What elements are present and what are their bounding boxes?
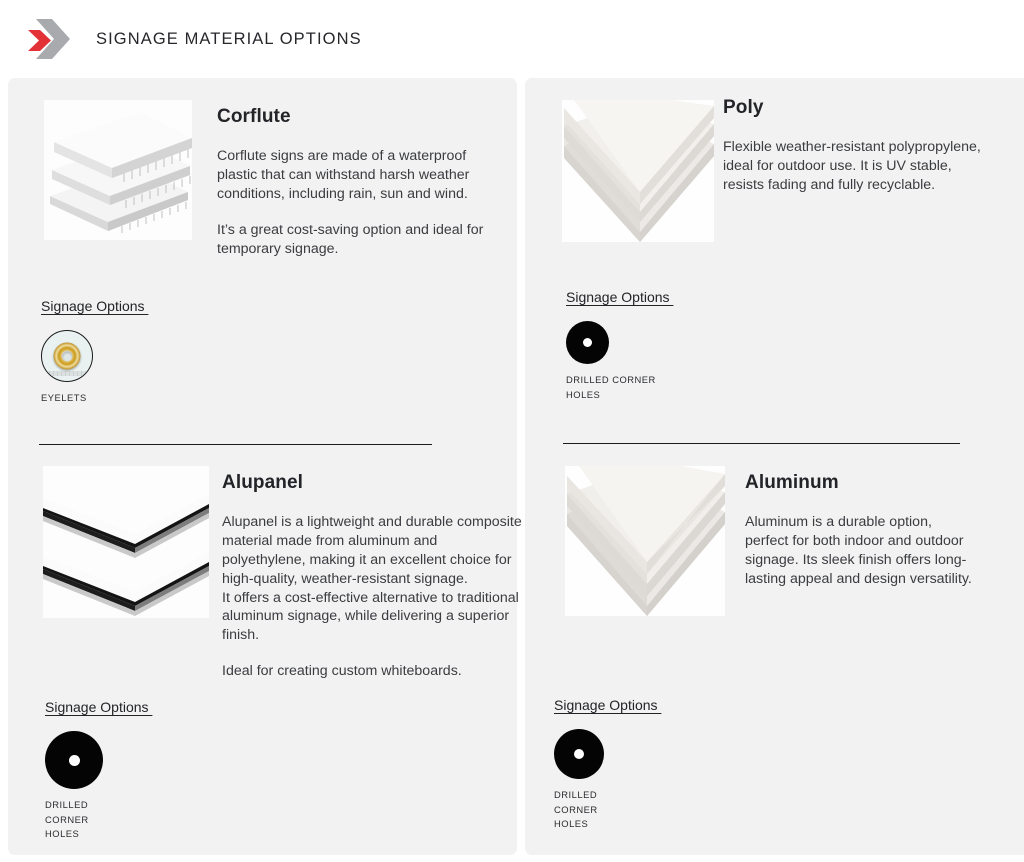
drilled-hole-icon	[566, 321, 609, 364]
aluminum-text: Aluminum Aluminum is a durable option, p…	[745, 472, 975, 589]
material-paragraph: Corflute signs are made of a waterproof …	[217, 147, 497, 204]
drilled-hole-icon	[554, 729, 604, 779]
aluminum-sheets-photo	[565, 466, 725, 616]
material-description: Aluminum is a durable option, perfect fo…	[745, 513, 975, 589]
material-description: Flexible weather-resistant polypropylene…	[723, 138, 985, 195]
material-description: Corflute signs are made of a waterproof …	[217, 147, 497, 258]
material-paragraph: Aluminum is a durable option, perfect fo…	[745, 513, 975, 589]
material-paragraph: Alupanel is a lightweight and durable co…	[222, 513, 522, 645]
poly-text: Poly Flexible weather-resistant polyprop…	[723, 97, 985, 195]
drilled-hole-icon	[45, 731, 103, 789]
signage-options-label: Signage Options	[45, 699, 152, 715]
signage-option-item[interactable]: DRILLED CORNER HOLES	[45, 731, 152, 842]
alupanel-text: Alupanel Alupanel is a lightweight and d…	[222, 472, 522, 681]
signage-option-caption: DRILLED CORNER HOLES	[45, 798, 152, 842]
divider-left	[39, 444, 432, 445]
eyelet-icon	[41, 330, 93, 382]
double-chevron-logo	[26, 17, 74, 61]
corflute-sheets-photo	[44, 100, 192, 240]
poly-sheets-photo	[562, 100, 714, 242]
signage-option-item[interactable]: DRILLED CORNER HOLES	[554, 729, 661, 832]
material-paragraph: Flexible weather-resistant polypropylene…	[723, 138, 985, 195]
divider-right	[563, 443, 960, 444]
signage-options-label: Signage Options	[566, 289, 673, 305]
page-header: SIGNAGE MATERIAL OPTIONS	[0, 0, 1024, 78]
alupanel-chevron-photo	[43, 466, 209, 618]
material-paragraph: Ideal for creating custom whiteboards.	[222, 662, 522, 681]
signage-option-caption: EYELETS	[41, 391, 148, 406]
signage-option-item[interactable]: EYELETS	[41, 330, 148, 406]
signage-options-label: Signage Options	[41, 298, 148, 314]
material-description: Alupanel is a lightweight and durable co…	[222, 513, 522, 681]
signage-options-aluminum: Signage Options DRILLED CORNER HOLES	[554, 697, 661, 832]
signage-options-alupanel: Signage Options DRILLED CORNER HOLES	[45, 699, 152, 842]
corflute-text: Corflute Corflute signs are made of a wa…	[217, 106, 497, 258]
material-title: Alupanel	[222, 472, 522, 494]
signage-options-poly: Signage Options DRILLED CORNER HOLES	[566, 289, 673, 402]
material-title: Aluminum	[745, 472, 975, 494]
material-paragraph: It’s a great cost-saving option and idea…	[217, 221, 497, 259]
material-title: Corflute	[217, 106, 497, 128]
signage-options-corflute: Signage Options EYELETS	[41, 298, 148, 406]
material-title: Poly	[723, 97, 985, 119]
signage-option-caption: DRILLED CORNER HOLES	[554, 788, 661, 832]
signage-options-label: Signage Options	[554, 697, 661, 713]
signage-option-item[interactable]: DRILLED CORNER HOLES	[566, 321, 673, 402]
signage-option-caption: DRILLED CORNER HOLES	[566, 373, 673, 402]
page-title: SIGNAGE MATERIAL OPTIONS	[96, 30, 362, 49]
